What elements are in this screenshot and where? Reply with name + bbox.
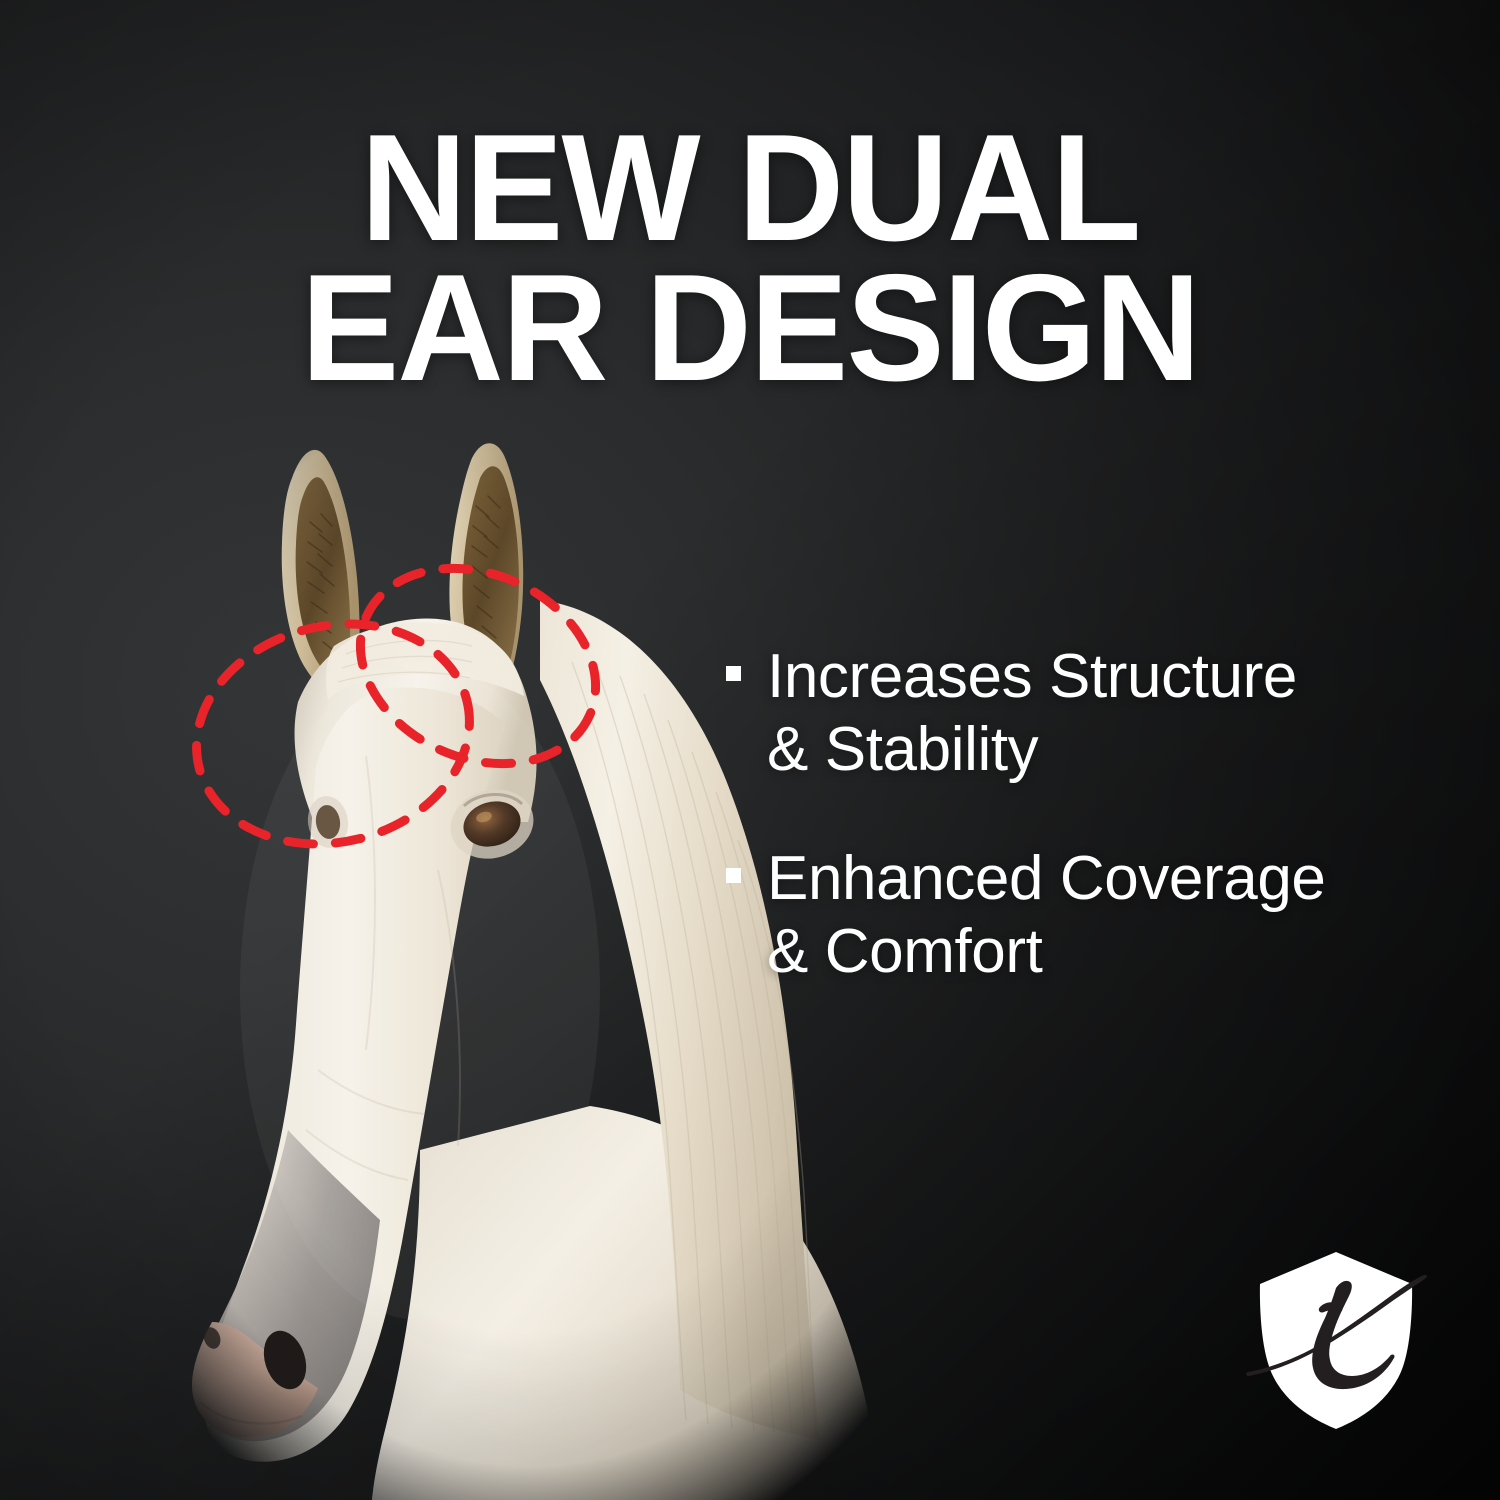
face-highlight [240,660,600,1320]
feature-line-2: & Comfort [767,917,1042,986]
list-item: Enhanced Coverage & Comfort [726,842,1426,988]
headline-line-1: NEW DUAL [23,118,1478,258]
square-bullet-icon [726,868,741,883]
feature-line-2: & Stability [767,715,1038,784]
shield-badge-icon [1260,1252,1412,1429]
feature-list: Increases Structure & Stability Enhanced… [726,640,1426,988]
kensington-shield-logo [1240,1248,1432,1433]
feature-line-1: Enhanced Coverage [767,844,1326,913]
feature-text: Enhanced Coverage & Comfort [767,842,1326,988]
list-item: Increases Structure & Stability [726,640,1426,786]
headline: NEW DUAL EAR DESIGN [23,118,1478,398]
headline-line-2: EAR DESIGN [23,258,1478,398]
feature-line-1: Increases Structure [767,642,1297,711]
feature-text: Increases Structure & Stability [767,640,1297,786]
square-bullet-icon [726,666,741,681]
product-feature-poster: NEW DUAL EAR DESIGN [0,0,1500,1500]
